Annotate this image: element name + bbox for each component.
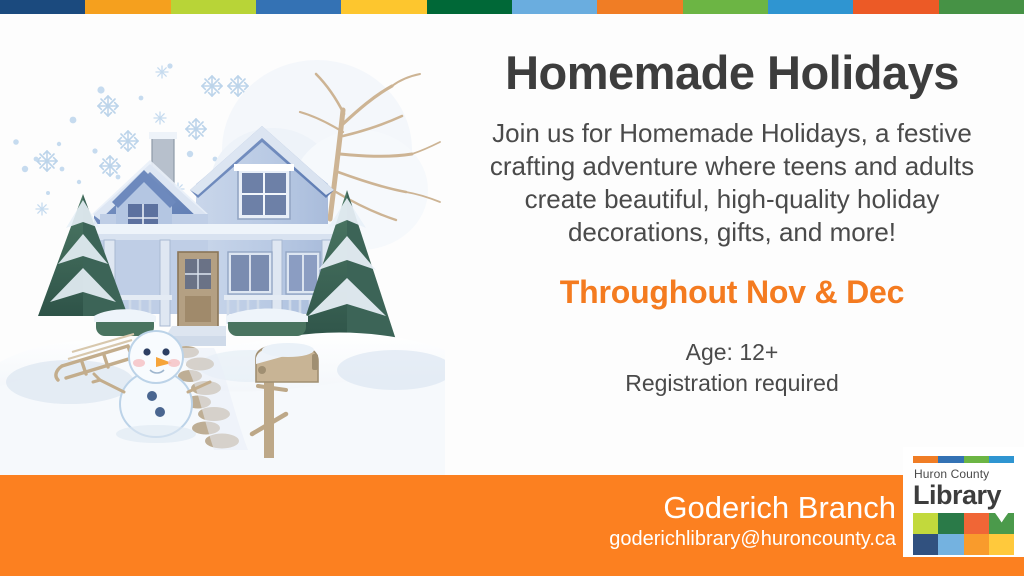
color-segment-8 [597,0,682,14]
logo-block-bottom-3 [964,534,989,555]
color-segment-11 [853,0,938,14]
winter-house-illustration [0,14,445,475]
logo-block-bottom-4 [989,534,1014,555]
event-description: Join us for Homemade Holidays, a festive… [467,117,997,248]
logo-block-top-4 [989,513,1014,534]
logo-checkmark-notch [989,513,1014,534]
logo-block-row-top [913,513,1014,534]
color-segment-12 [939,0,1024,14]
color-segment-9 [683,0,768,14]
page-title: Homemade Holidays [505,48,959,97]
logo-strip-segment-4 [989,456,1014,463]
color-segment-7 [512,0,597,14]
event-poster: Homemade Holidays Join us for Homemade H… [0,0,1024,576]
color-segment-2 [85,0,170,14]
color-segment-1 [0,0,85,14]
logo-block-bottom-1 [913,534,938,555]
logo-color-blocks [913,513,1014,555]
poster-text-column: Homemade Holidays Join us for Homemade H… [440,14,1024,475]
branch-email[interactable]: goderichlibrary@huroncounty.ca [609,527,896,551]
top-color-strip [0,0,1024,14]
logo-strip-segment-2 [938,456,963,463]
logo-block-top-1 [913,513,938,534]
logo-block-top-3 [964,513,989,534]
event-registration-note: Registration required [625,368,839,399]
event-dates: Throughout Nov & Dec [560,274,904,311]
huron-county-library-logo: Huron County Library [903,447,1024,557]
logo-strip-segment-1 [913,456,938,463]
logo-color-strip [913,456,1014,463]
event-age-requirement: Age: 12+ [625,337,839,368]
footer-bar: Goderich Branch goderichlibrary@huroncou… [0,475,1024,576]
branch-name: Goderich Branch [609,491,896,525]
logo-block-top-2 [938,513,963,534]
logo-block-bottom-2 [938,534,963,555]
color-segment-4 [256,0,341,14]
logo-strip-segment-3 [964,456,989,463]
color-segment-10 [768,0,853,14]
event-details: Age: 12+ Registration required [625,337,839,399]
logo-block-row-bottom [913,534,1014,555]
logo-huron-county-text: Huron County [914,467,989,481]
logo-library-text: Library [913,480,1001,511]
color-segment-6 [427,0,512,14]
color-segment-3 [171,0,256,14]
color-segment-5 [341,0,426,14]
branch-contact-block: Goderich Branch goderichlibrary@huroncou… [609,491,896,551]
